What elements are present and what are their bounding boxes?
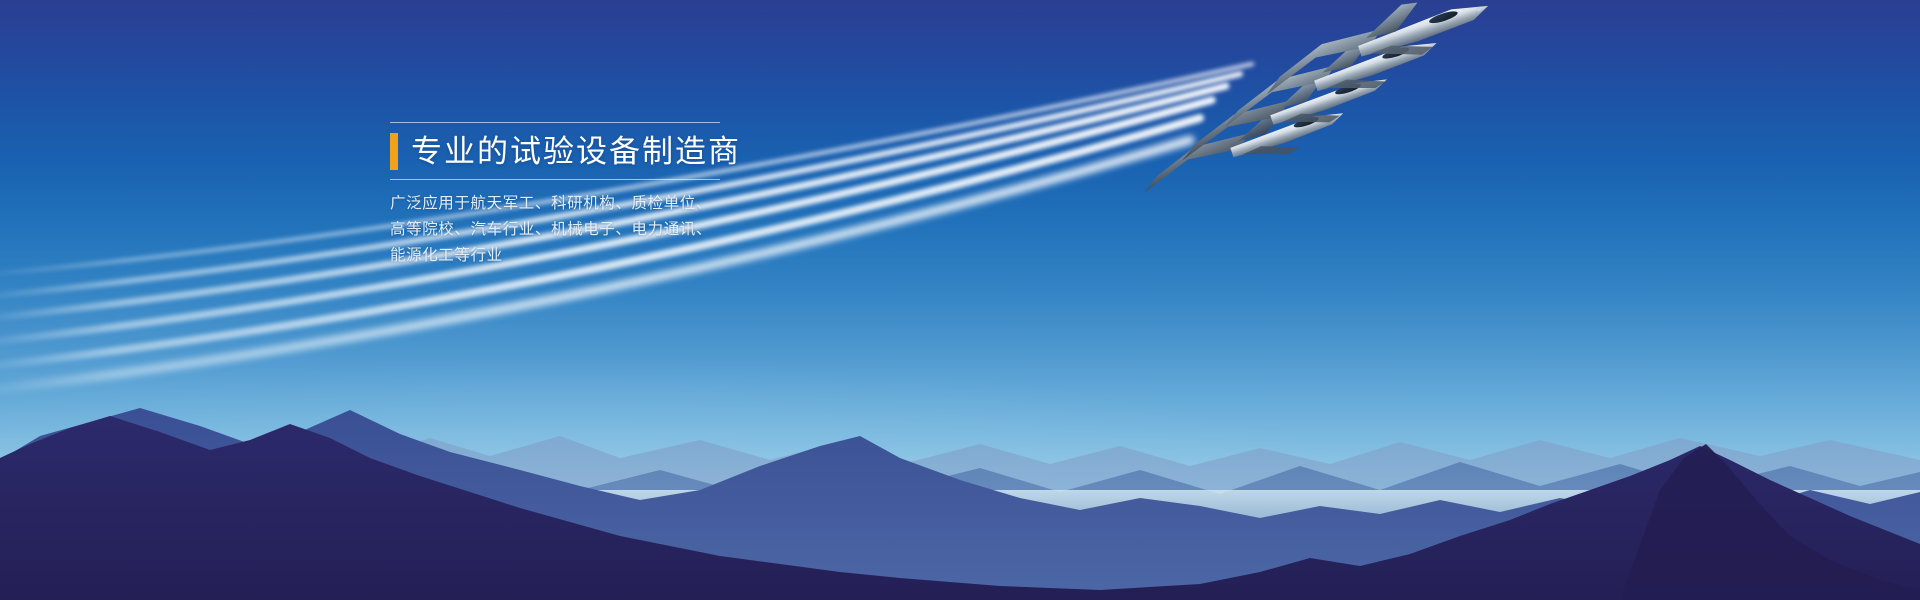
subtitle-line-3: 能源化工等行业 — [390, 243, 730, 269]
banner-headline: 专业的试验设备制造商 — [411, 136, 741, 168]
accent-bar-icon — [390, 133, 398, 170]
subtitle-line-1: 广泛应用于航天军工、科研机构、质检单位、 — [390, 191, 730, 217]
mountain-range-silhouettes — [0, 340, 1920, 600]
hero-banner: 专业的试验设备制造商 广泛应用于航天军工、科研机构、质检单位、 高等院校、汽车行… — [0, 0, 1920, 600]
headline-row: 专业的试验设备制造商 — [390, 123, 730, 179]
subtitle-line-2: 高等院校、汽车行业、机械电子、电力通讯、 — [390, 217, 730, 243]
fighter-jet-formation — [1130, 40, 1510, 280]
banner-subtitle: 广泛应用于航天军工、科研机构、质检单位、 高等院校、汽车行业、机械电子、电力通讯… — [390, 180, 730, 269]
banner-text-block: 专业的试验设备制造商 广泛应用于航天军工、科研机构、质检单位、 高等院校、汽车行… — [390, 122, 730, 269]
